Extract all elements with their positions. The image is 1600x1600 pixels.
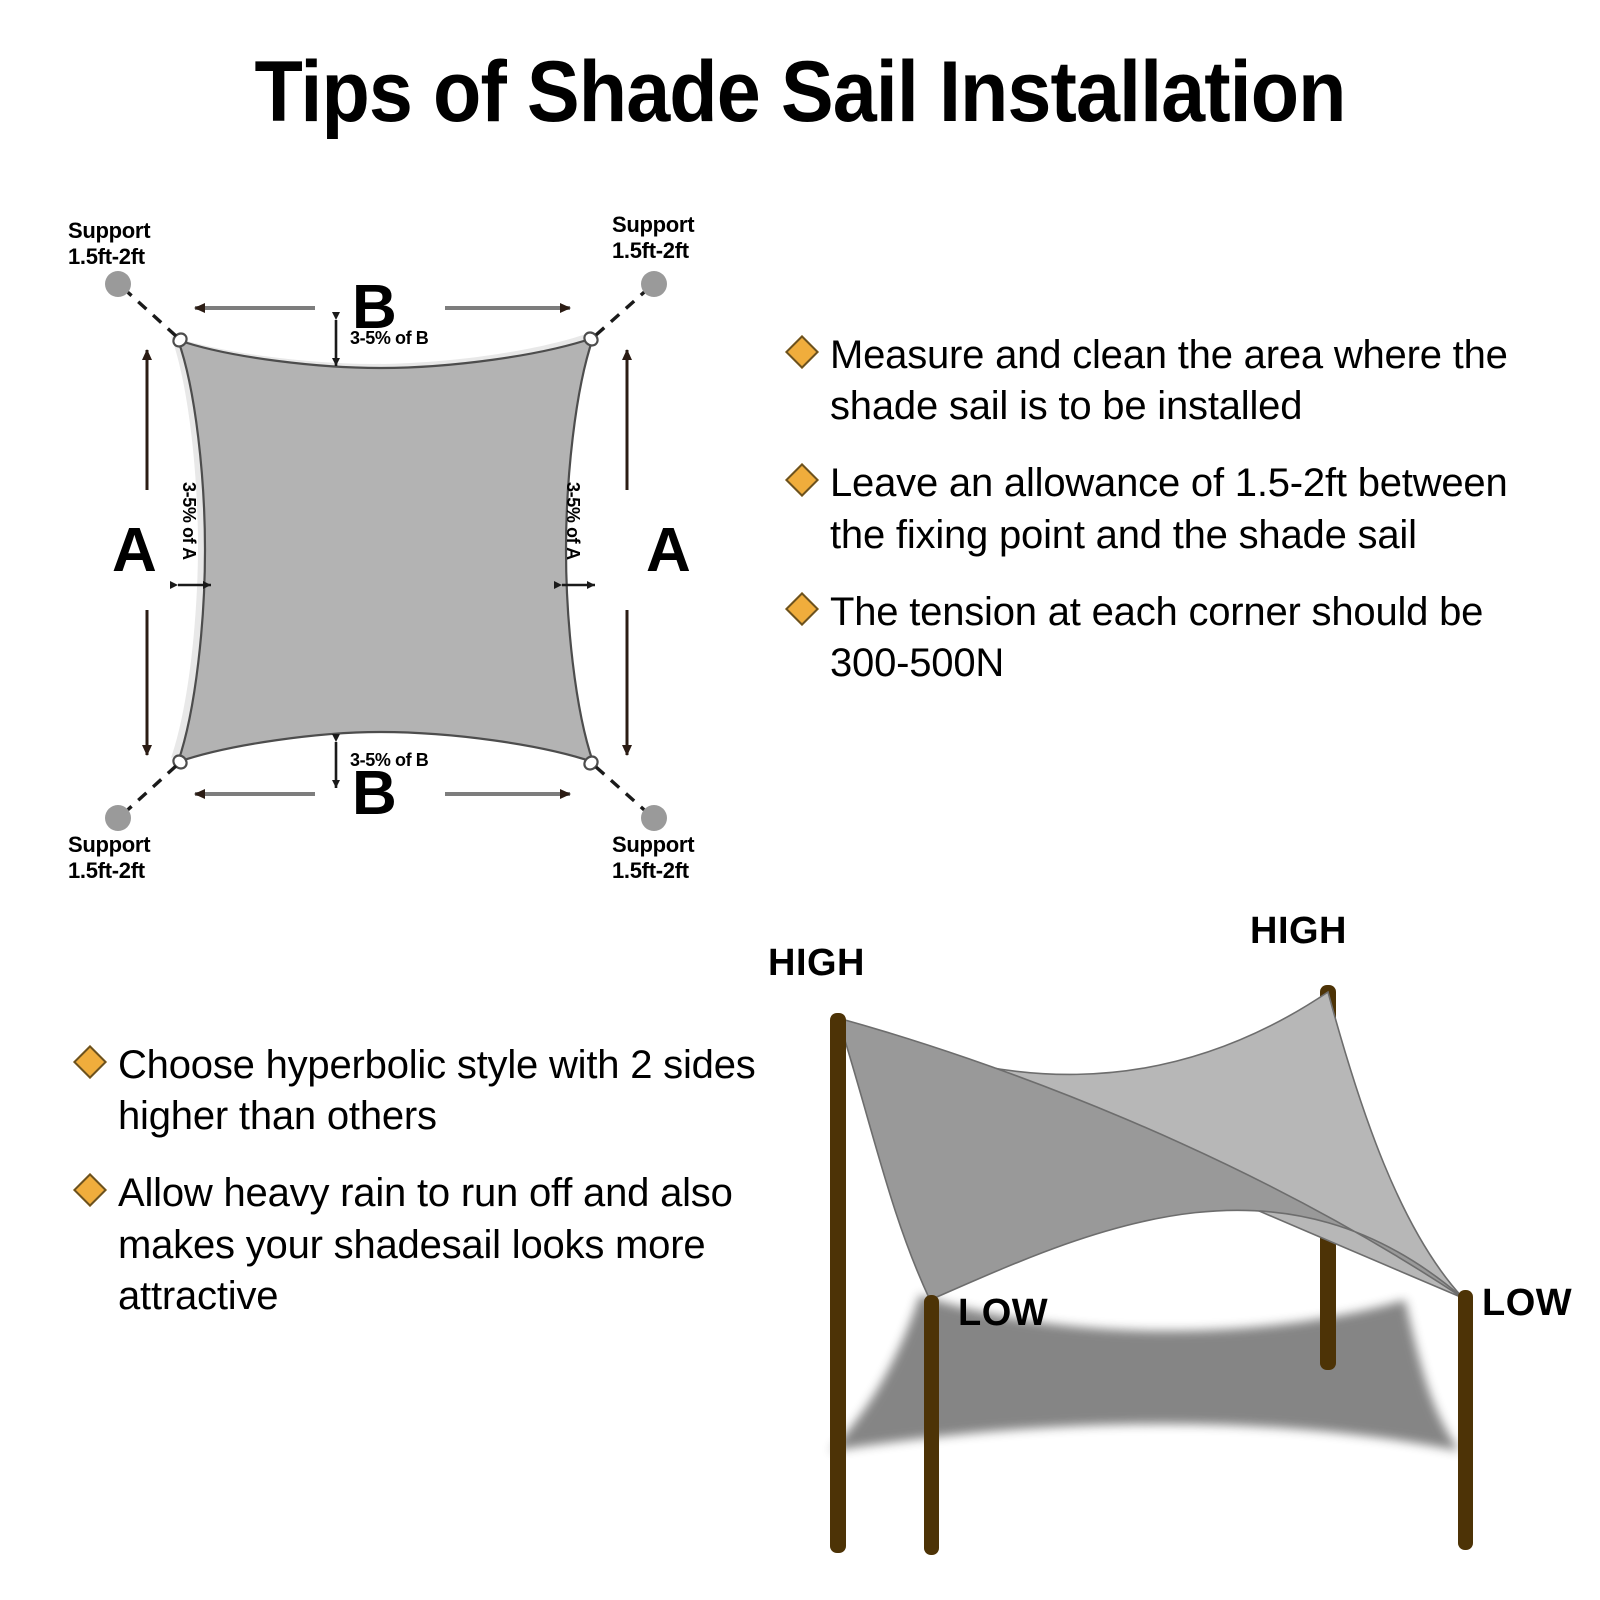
hyperbolic-sail-illustration: HIGH HIGH LOW LOW: [760, 900, 1600, 1560]
tip-text: Choose hyperbolic style with 2 sides hig…: [118, 1040, 788, 1142]
post-low-right: [1458, 1290, 1473, 1550]
tip-text: Allow heavy rain to run off and also mak…: [118, 1168, 788, 1322]
support-dot-bottom-left: [105, 805, 131, 831]
dimension-letter-b-bottom: B: [352, 763, 397, 825]
post-label-high-right: HIGH: [1250, 910, 1347, 953]
dimension-letter-a-right: A: [646, 520, 691, 582]
support-label-line2: 1.5ft-2ft: [68, 858, 150, 884]
post-low-left: [924, 1295, 939, 1555]
diamond-bullet-icon: [785, 335, 819, 369]
tips-list-top: Measure and clean the area where the sha…: [790, 330, 1550, 715]
post-label-low-right: LOW: [1482, 1282, 1572, 1325]
post-label-high-left: HIGH: [768, 942, 865, 985]
support-label-bottom-left: Support 1.5ft-2ft: [68, 832, 150, 884]
support-label-line2: 1.5ft-2ft: [612, 858, 694, 884]
support-label-top-right: Support 1.5ft-2ft: [612, 212, 694, 264]
support-label-line1: Support: [68, 218, 150, 244]
diamond-bullet-icon: [785, 592, 819, 626]
sag-label-left: 3-5% of A: [178, 482, 199, 560]
post-high-left: [830, 1013, 846, 1553]
sag-label-top: 3-5% of B: [350, 328, 428, 349]
tip-text: The tension at each corner should be 300…: [830, 587, 1530, 689]
support-label-line2: 1.5ft-2ft: [612, 238, 694, 264]
tip-text: Leave an allowance of 1.5-2ft between th…: [830, 458, 1530, 560]
fixing-line-bottom-left: [122, 766, 176, 815]
fixing-line-bottom-right: [596, 767, 650, 815]
sag-label-bottom: 3-5% of B: [350, 750, 428, 771]
diamond-bullet-icon: [785, 463, 819, 497]
fixing-line-top-right: [596, 287, 650, 335]
support-label-line1: Support: [68, 832, 150, 858]
support-label-bottom-right: Support 1.5ft-2ft: [612, 832, 694, 884]
list-item: Allow heavy rain to run off and also mak…: [78, 1168, 808, 1322]
support-label-line1: Support: [612, 212, 694, 238]
dimension-letter-a-left: A: [112, 520, 157, 582]
support-dot-top-left: [105, 271, 131, 297]
support-dot-top-right: [641, 271, 667, 297]
tips-list-bottom: Choose hyperbolic style with 2 sides hig…: [78, 1040, 808, 1348]
diamond-bullet-icon: [73, 1045, 107, 1079]
tip-text: Measure and clean the area where the sha…: [830, 330, 1530, 432]
diamond-bullet-icon: [73, 1173, 107, 1207]
support-label-line2: 1.5ft-2ft: [68, 244, 150, 270]
fixing-line-top-left: [122, 287, 176, 336]
support-label-line1: Support: [612, 832, 694, 858]
shade-sail-shape: [178, 338, 593, 762]
sag-label-right: 3-5% of A: [562, 482, 583, 560]
hyperbolic-sail-svg: [760, 900, 1600, 1560]
list-item: The tension at each corner should be 300…: [790, 587, 1550, 689]
shade-sail-dimension-diagram: Support 1.5ft-2ft Support 1.5ft-2ft Supp…: [50, 190, 780, 900]
support-dot-bottom-right: [641, 805, 667, 831]
list-item: Choose hyperbolic style with 2 sides hig…: [78, 1040, 808, 1142]
list-item: Leave an allowance of 1.5-2ft between th…: [790, 458, 1550, 560]
list-item: Measure and clean the area where the sha…: [790, 330, 1550, 432]
post-label-low-left: LOW: [958, 1292, 1048, 1335]
page-title: Tips of Shade Sail Installation: [64, 44, 1536, 140]
support-label-top-left: Support 1.5ft-2ft: [68, 218, 150, 270]
